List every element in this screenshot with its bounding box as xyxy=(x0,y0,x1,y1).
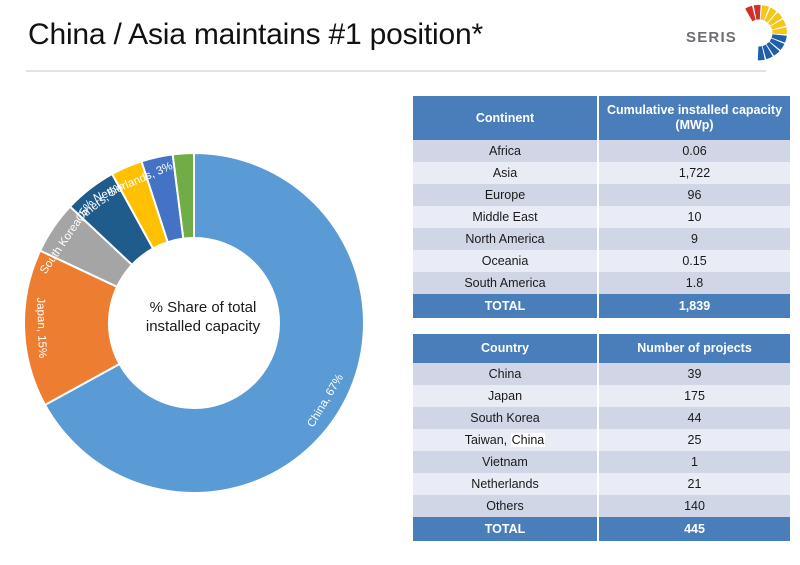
total-value: 445 xyxy=(598,517,790,541)
table-row: Netherlands21 xyxy=(413,473,790,495)
donut-center-label: % Share of total installed capacity xyxy=(120,298,286,336)
seris-logo: SERIS xyxy=(684,2,792,66)
table-row: Taiwan, China25 xyxy=(413,429,790,451)
cell-label: Others xyxy=(413,495,598,517)
header-divider xyxy=(26,70,766,72)
slide-header: China / Asia maintains #1 position* SERI… xyxy=(0,0,800,82)
cell-value: 9 xyxy=(598,228,790,250)
cell-label: Vietnam xyxy=(413,451,598,473)
cell-value: 39 xyxy=(598,363,790,385)
table-row: South Korea44 xyxy=(413,407,790,429)
donut-center-line1: % Share of total xyxy=(120,298,286,317)
cell-value: 175 xyxy=(598,385,790,407)
cell-label: Japan xyxy=(413,385,598,407)
total-value: 1,839 xyxy=(598,294,790,318)
cell-value: 10 xyxy=(598,206,790,228)
cell-value: 1.8 xyxy=(598,272,790,294)
cell-label: Netherlands xyxy=(413,473,598,495)
cell-label: China xyxy=(413,363,598,385)
total-label: TOTAL xyxy=(413,517,598,541)
cell-value: 0.06 xyxy=(598,140,790,162)
cell-value: 140 xyxy=(598,495,790,517)
column-header-country: Country xyxy=(413,334,598,363)
cell-label: Oceania xyxy=(413,250,598,272)
cell-label: South Korea xyxy=(413,407,598,429)
cell-label-highlight: China xyxy=(511,433,546,447)
cell-label: Africa xyxy=(413,140,598,162)
table-row: Japan175 xyxy=(413,385,790,407)
donut-center-line2: installed capacity xyxy=(120,317,286,336)
table-row: Asia1,722 xyxy=(413,162,790,184)
share-donut-chart: China, 67%Japan, 15%South Korea, 5%Other… xyxy=(8,108,398,540)
table-header-row: Country Number of projects xyxy=(413,334,790,363)
cell-value: 44 xyxy=(598,407,790,429)
cell-label: Taiwan, China xyxy=(413,429,598,451)
cell-value: 96 xyxy=(598,184,790,206)
cell-value: 1,722 xyxy=(598,162,790,184)
column-header-capacity: Cumulative installed capacity (MWp) xyxy=(598,96,790,140)
column-header-continent: Continent xyxy=(413,96,598,140)
cell-label: Middle East xyxy=(413,206,598,228)
total-label: TOTAL xyxy=(413,294,598,318)
continent-capacity-table: Continent Cumulative installed capacity … xyxy=(413,96,790,318)
table-total-row: TOTAL 445 xyxy=(413,517,790,541)
cell-value: 1 xyxy=(598,451,790,473)
table-row: Middle East10 xyxy=(413,206,790,228)
table-row: North America9 xyxy=(413,228,790,250)
table-header-row: Continent Cumulative installed capacity … xyxy=(413,96,790,140)
cell-label: Asia xyxy=(413,162,598,184)
table-row: Europe96 xyxy=(413,184,790,206)
table-row: China39 xyxy=(413,363,790,385)
table-total-row: TOTAL 1,839 xyxy=(413,294,790,318)
cell-value: 0.15 xyxy=(598,250,790,272)
table-row: South America1.8 xyxy=(413,272,790,294)
cell-label: Europe xyxy=(413,184,598,206)
sunburst-icon xyxy=(728,2,790,64)
table-row: Oceania0.15 xyxy=(413,250,790,272)
table-row: Africa0.06 xyxy=(413,140,790,162)
table-row: Vietnam1 xyxy=(413,451,790,473)
cell-label: North America xyxy=(413,228,598,250)
country-projects-table: Country Number of projects China39Japan1… xyxy=(413,334,790,541)
column-header-projects: Number of projects xyxy=(598,334,790,363)
donut-slice-label: Japan, 15% xyxy=(34,297,48,358)
cell-value: 21 xyxy=(598,473,790,495)
cell-value: 25 xyxy=(598,429,790,451)
page-title: China / Asia maintains #1 position* xyxy=(28,18,483,52)
table-row: Others140 xyxy=(413,495,790,517)
cell-label: South America xyxy=(413,272,598,294)
